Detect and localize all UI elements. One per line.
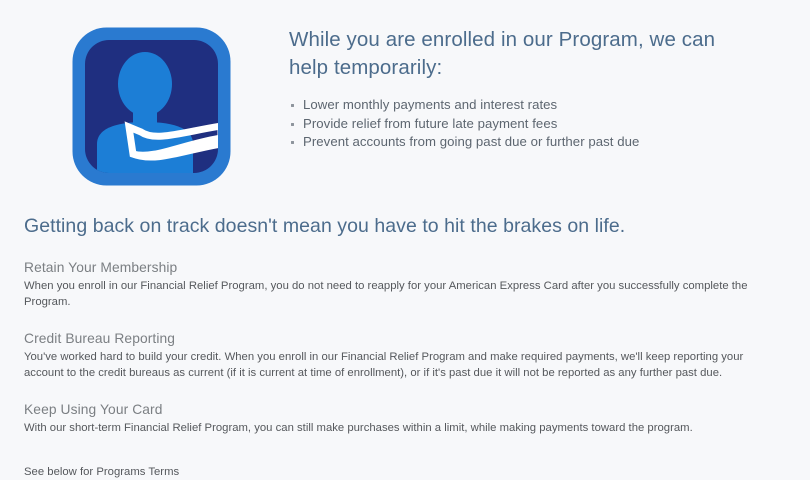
bullet-icon bbox=[291, 123, 294, 126]
content-section: Getting back on track doesn't mean you h… bbox=[24, 213, 794, 480]
programs-terms-link[interactable]: See below for Programs Terms bbox=[24, 465, 179, 480]
section-body: With our short-term Financial Relief Pro… bbox=[24, 421, 776, 437]
section-body: When you enroll in our Financial Relief … bbox=[24, 279, 776, 310]
hero-text-block: While you are enrolled in our Program, w… bbox=[289, 26, 789, 152]
section-retain-your-membership: Retain Your Membership When you enroll i… bbox=[24, 258, 794, 310]
bullet-icon bbox=[291, 141, 294, 144]
section-title: Credit Bureau Reporting bbox=[24, 329, 794, 348]
list-item-label: Prevent accounts from going past due or … bbox=[303, 134, 639, 149]
section-title: Retain Your Membership bbox=[24, 258, 794, 277]
section-credit-bureau-reporting: Credit Bureau Reporting You've worked ha… bbox=[24, 329, 794, 381]
list-item: Provide relief from future late payment … bbox=[289, 115, 789, 134]
hero-title: While you are enrolled in our Program, w… bbox=[289, 26, 749, 82]
list-item-label: Provide relief from future late payment … bbox=[303, 116, 557, 131]
page-title: Getting back on track doesn't mean you h… bbox=[24, 213, 794, 239]
hero-benefit-list: Lower monthly payments and interest rate… bbox=[289, 96, 789, 152]
list-item: Lower monthly payments and interest rate… bbox=[289, 96, 789, 115]
bullet-icon bbox=[291, 104, 294, 107]
section-keep-using-your-card: Keep Using Your Card With our short-term… bbox=[24, 400, 794, 437]
hero-section: While you are enrolled in our Program, w… bbox=[0, 0, 810, 205]
section-body: You've worked hard to build your credit.… bbox=[24, 350, 776, 381]
person-with-ribbon-icon bbox=[71, 26, 232, 187]
section-title: Keep Using Your Card bbox=[24, 400, 794, 419]
list-item-label: Lower monthly payments and interest rate… bbox=[303, 97, 557, 112]
list-item: Prevent accounts from going past due or … bbox=[289, 133, 789, 152]
